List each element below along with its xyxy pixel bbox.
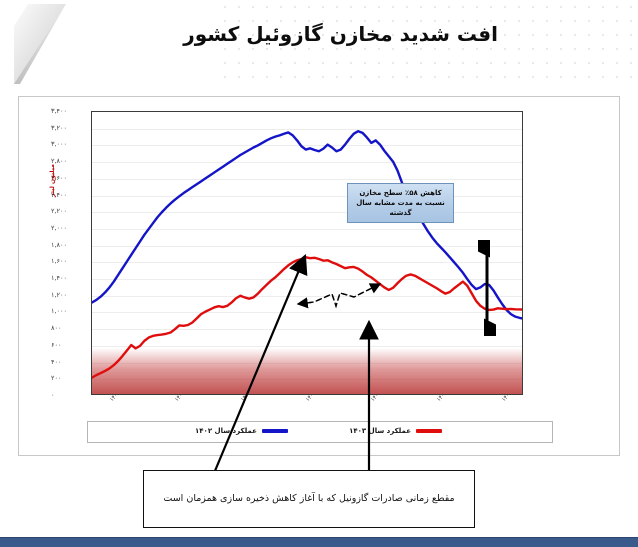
legend-swatch-1402 [262,429,288,433]
y-tick-label: ۱,۲۰۰ [51,291,95,299]
legend-label-1403: عملکرد سال ۱۴۰۳ [349,427,411,435]
page-header: افت شدید مخازن گازوئیل کشور [0,0,638,88]
y-tick-label: ۲,۸۰۰ [51,157,95,165]
footer-bar [0,537,638,547]
y-tick-label: ۱,۰۰۰ [51,307,95,315]
plot-area [91,111,523,395]
y-tick-label: ۱,۸۰۰ [51,241,95,249]
bottom-note-box: مقطع زمانی صادرات گازونیل که با آغاز کاه… [143,470,475,528]
y-tick-label: ۳,۰۰۰ [51,140,95,148]
gap-double-arrow-icon [478,240,496,336]
chart-container: میلیون لیتر ۳,۴۰۰۳,۲۰۰۳,۰۰۰۲,۸۰۰۲,۶۰۰۲,۴… [18,96,620,456]
y-tick-label: ۲۰۰ [51,374,95,382]
legend-swatch-1403 [416,429,442,433]
y-tick-label: ۰ [51,391,95,399]
callout-box: کاهش ۵۸٪ سطح مخازن نسبت به مدت مشابه سال… [347,183,454,223]
y-tick-label: ۸۰۰ [51,324,95,332]
callout-line-3: گذشته [353,208,448,218]
series-lines [92,112,523,395]
y-tick-label: ۱,۶۰۰ [51,257,95,265]
y-tick-label: ۳,۲۰۰ [51,124,95,132]
y-tick-label: ۶۰۰ [51,341,95,349]
bottom-note-text: مقطع زمانی صادرات گازونیل که با آغاز کاه… [163,491,454,506]
callout-line-1: کاهش ۵۸٪ سطح مخازن [353,188,448,198]
callout-line-2: نسبت به مدت مشابه سال [353,198,448,208]
y-tick-label: ۲,۶۰۰ [51,174,95,182]
legend-item-1402: عملکرد سال ۱۴۰۲ [195,427,288,435]
series-line-1403 [92,257,523,377]
y-tick-label: ۲,۴۰۰ [51,191,95,199]
y-tick-label: ۲,۲۰۰ [51,207,95,215]
legend-label-1402: عملکرد سال ۱۴۰۲ [195,427,257,435]
y-tick-label: ۲,۰۰۰ [51,224,95,232]
y-tick-label: ۱,۴۰۰ [51,274,95,282]
legend-item-1403: عملکرد سال ۱۴۰۳ [349,427,442,435]
chart-legend: عملکرد سال ۱۴۰۳ عملکرد سال ۱۴۰۲ [87,421,553,443]
page-title: افت شدید مخازن گازوئیل کشور [183,22,498,46]
y-tick-label: ۳,۴۰۰ [51,107,95,115]
export-period-dashed-arrow-icon [292,280,384,314]
y-tick-label: ۴۰۰ [51,358,95,366]
folded-corner-icon [14,4,66,84]
